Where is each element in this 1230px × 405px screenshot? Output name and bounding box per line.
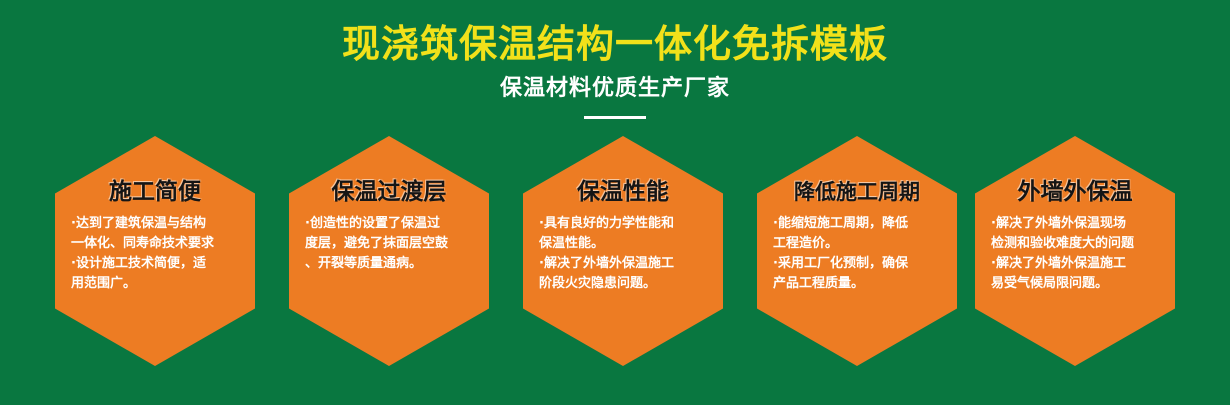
feature-body-line: ·采用工厂化预制，确保 xyxy=(773,254,943,274)
title-divider xyxy=(584,116,646,119)
feature-title: 外墙外保温 xyxy=(981,136,1169,206)
feature-body-line: 、开裂等质量通病。 xyxy=(305,254,475,274)
feature-body-line: ·达到了建筑保温与结构 xyxy=(71,214,241,234)
feature-body-line: ·设计施工技术简便，适 xyxy=(71,254,241,274)
feature-body-line: ·能缩短施工周期，降低 xyxy=(773,214,943,234)
feature-hexagon[interactable]: 降低施工周期 ·能缩短施工周期，降低 工程造价。 ·采用工厂化预制，确保 产品工… xyxy=(757,136,957,366)
feature-hexagon[interactable]: 保温性能 ·具有良好的力学性能和 保温性能。 ·解决了外墙外保温施工 阶段火灾隐… xyxy=(523,136,723,366)
feature-body: ·能缩短施工周期，降低 工程造价。 ·采用工厂化预制，确保 产品工程质量。 xyxy=(763,206,951,294)
feature-body-line: 保温性能。 xyxy=(539,234,709,254)
feature-body-line: 用范围广。 xyxy=(71,274,241,294)
banner-header: 现浇筑保温结构一体化免拆模板 保温材料优质生产厂家 xyxy=(0,0,1230,119)
feature-hexagon[interactable]: 外墙外保温 ·解决了外墙外保温现场 检测和验收难度大的问题 ·解决了外墙外保温施… xyxy=(975,136,1175,366)
feature-body-line: 一体化、同寿命技术要求 xyxy=(71,234,241,254)
feature-body-line: 产品工程质量。 xyxy=(773,274,943,294)
feature-body-line: ·创造性的设置了保温过 xyxy=(305,214,475,234)
feature-hexagon-row: 施工简便 ·达到了建筑保温与结构 一体化、同寿命技术要求 ·设计施工技术简便，适… xyxy=(0,136,1230,368)
page-subtitle: 保温材料优质生产厂家 xyxy=(0,66,1230,103)
feature-title: 保温过渡层 xyxy=(295,136,483,206)
feature-body-line: ·解决了外墙外保温施工 xyxy=(991,254,1161,274)
feature-body-line: 易受气候局限问题。 xyxy=(991,274,1161,294)
feature-hexagon[interactable]: 施工简便 ·达到了建筑保温与结构 一体化、同寿命技术要求 ·设计施工技术简便，适… xyxy=(55,136,255,366)
feature-body-line: 工程造价。 xyxy=(773,234,943,254)
feature-body-line: 阶段火灾隐患问题。 xyxy=(539,274,709,294)
feature-body-line: 检测和验收难度大的问题 xyxy=(991,234,1161,254)
feature-body: ·解决了外墙外保温现场 检测和验收难度大的问题 ·解决了外墙外保温施工 易受气候… xyxy=(981,206,1169,294)
page-title: 现浇筑保温结构一体化免拆模板 xyxy=(0,0,1230,66)
feature-body: ·具有良好的力学性能和 保温性能。 ·解决了外墙外保温施工 阶段火灾隐患问题。 xyxy=(529,206,717,294)
feature-body-line: ·解决了外墙外保温施工 xyxy=(539,254,709,274)
feature-title: 施工简便 xyxy=(61,136,249,206)
feature-body-line: 度层，避免了抹面层空鼓 xyxy=(305,234,475,254)
feature-body-line: ·具有良好的力学性能和 xyxy=(539,214,709,234)
feature-hexagon[interactable]: 保温过渡层 ·创造性的设置了保温过 度层，避免了抹面层空鼓 、开裂等质量通病。 xyxy=(289,136,489,366)
feature-body: ·达到了建筑保温与结构 一体化、同寿命技术要求 ·设计施工技术简便，适 用范围广… xyxy=(61,206,249,294)
promo-banner: 现浇筑保温结构一体化免拆模板 保温材料优质生产厂家 施工简便 ·达到了建筑保温与… xyxy=(0,0,1230,405)
feature-body: ·创造性的设置了保温过 度层，避免了抹面层空鼓 、开裂等质量通病。 xyxy=(295,206,483,274)
feature-title: 保温性能 xyxy=(529,136,717,206)
feature-body-line: ·解决了外墙外保温现场 xyxy=(991,214,1161,234)
feature-title: 降低施工周期 xyxy=(763,136,951,206)
